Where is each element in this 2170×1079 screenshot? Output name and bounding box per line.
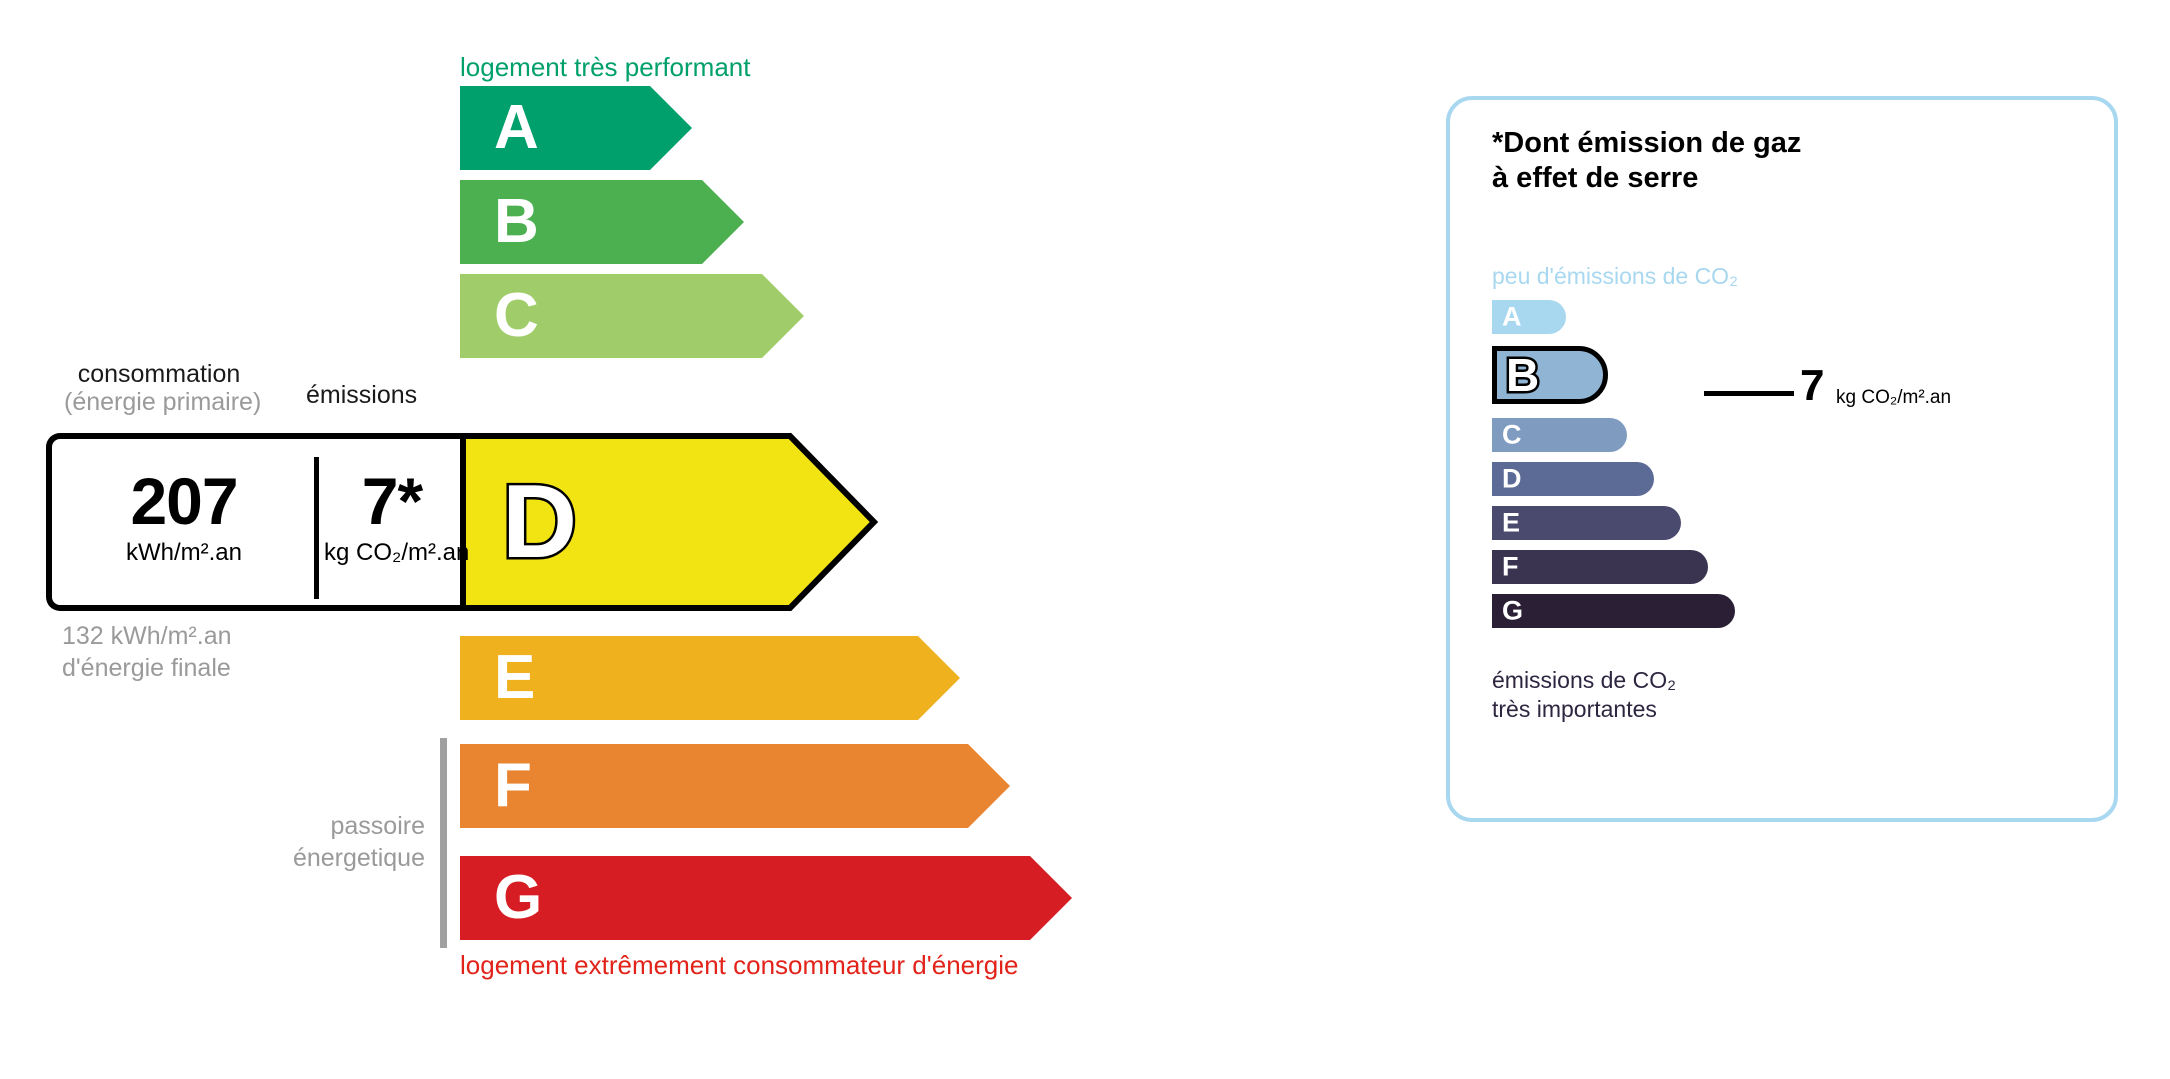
co2-emissions-panel: *Dont émission de gaz à effet de serre p…	[1446, 96, 2118, 822]
emission-unit: kg CO₂/m².an	[324, 541, 460, 565]
co2-grade-row-b-selected[interactable]: B	[1492, 346, 1608, 404]
co2-grade-row-c[interactable]: C	[1492, 418, 1627, 452]
emission-value: 7*	[324, 465, 460, 539]
energy-scale-bottom-caption: logement extrêmement consommateur d'éner…	[460, 952, 1018, 978]
co2-callout-unit: kg CO₂/m².an	[1836, 388, 1951, 407]
energy-grade-letter-f: F	[494, 755, 532, 817]
emission-value-cell: 7* kg CO₂/m².an	[324, 465, 460, 565]
energy-grade-letter-d: D	[502, 470, 577, 574]
passoire-energetique-marker	[440, 738, 447, 948]
final-energy-label: d'énergie finale	[62, 654, 231, 682]
consumption-unit: kWh/m².an	[58, 541, 310, 565]
co2-grade-letter-f: F	[1502, 554, 1519, 581]
co2-panel-title-line1: *Dont émission de gaz	[1492, 127, 1801, 159]
co2-top-caption: peu d'émissions de CO₂	[1492, 265, 1738, 288]
final-energy-value: 132 kWh/m².an	[62, 622, 232, 650]
co2-bottom-caption: émissions de CO₂ très importantes	[1492, 666, 1676, 723]
energy-grade-row-e[interactable]: E	[460, 636, 960, 720]
energy-grade-row-a[interactable]: A	[460, 86, 692, 170]
consumption-header: consommation (énergie primaire)	[64, 361, 254, 416]
co2-bottom-caption-line1: émissions de CO₂	[1492, 667, 1676, 693]
energy-grade-row-c[interactable]: C	[460, 274, 804, 358]
co2-grade-letter-a: A	[1502, 304, 1522, 331]
co2-panel-title-line2: à effet de serre	[1492, 162, 1698, 194]
energy-grade-row-g[interactable]: G	[460, 856, 1072, 940]
energy-grade-letter-c: C	[494, 285, 539, 347]
value-box-divider	[314, 457, 319, 599]
energy-grade-row-f[interactable]: F	[460, 744, 1010, 828]
consumption-value: 207	[58, 465, 310, 539]
co2-callout-leader-line	[1704, 391, 1794, 396]
co2-grade-bar-e	[1492, 506, 1681, 540]
co2-grade-letter-c: C	[1502, 422, 1522, 449]
co2-grade-row-f[interactable]: F	[1492, 550, 1708, 584]
co2-grade-letter-g: G	[1502, 598, 1523, 625]
consumption-header-title: consommation	[78, 360, 241, 388]
co2-grade-row-a[interactable]: A	[1492, 300, 1566, 334]
energy-grade-arrow-g-icon	[460, 856, 1072, 940]
consumption-value-cell: 207 kWh/m².an	[58, 465, 310, 565]
emissions-header: émissions	[306, 382, 417, 410]
co2-grade-row-e[interactable]: E	[1492, 506, 1681, 540]
energy-grade-arrow-f-icon	[460, 744, 1010, 828]
co2-grade-letter-e: E	[1502, 510, 1520, 537]
co2-grade-bar-f	[1492, 550, 1708, 584]
co2-grade-letter-b: B	[1506, 352, 1539, 398]
final-energy-note: 132 kWh/m².an d'énergie finale	[62, 620, 232, 684]
energy-grade-row-d-selected[interactable]: D	[460, 433, 880, 611]
co2-grade-row-g[interactable]: G	[1492, 594, 1735, 628]
value-box: 207 kWh/m².an 7* kg CO₂/m².an	[46, 433, 460, 611]
energy-performance-scale: logement très performant A B C D E	[0, 0, 1400, 1079]
consumption-header-subtitle: (énergie primaire)	[64, 389, 254, 417]
energy-grade-letter-g: G	[494, 867, 542, 929]
energy-grade-letter-a: A	[494, 97, 539, 159]
energy-grade-letter-e: E	[494, 647, 535, 709]
passoire-label-line1: passoire	[331, 812, 426, 840]
passoire-energetique-label: passoire énergetique	[190, 810, 425, 874]
co2-bottom-caption-line2: très importantes	[1492, 696, 1657, 722]
co2-callout-value: 7	[1800, 364, 1824, 408]
energy-grade-letter-b: B	[494, 191, 539, 253]
energy-grade-row-b[interactable]: B	[460, 180, 744, 264]
co2-grade-bar-g	[1492, 594, 1735, 628]
energy-scale-top-caption: logement très performant	[460, 54, 750, 80]
co2-panel-title: *Dont émission de gaz à effet de serre	[1492, 126, 1801, 197]
co2-grade-letter-d: D	[1502, 466, 1522, 493]
co2-grade-row-d[interactable]: D	[1492, 462, 1654, 496]
passoire-label-line2: énergetique	[293, 844, 425, 872]
